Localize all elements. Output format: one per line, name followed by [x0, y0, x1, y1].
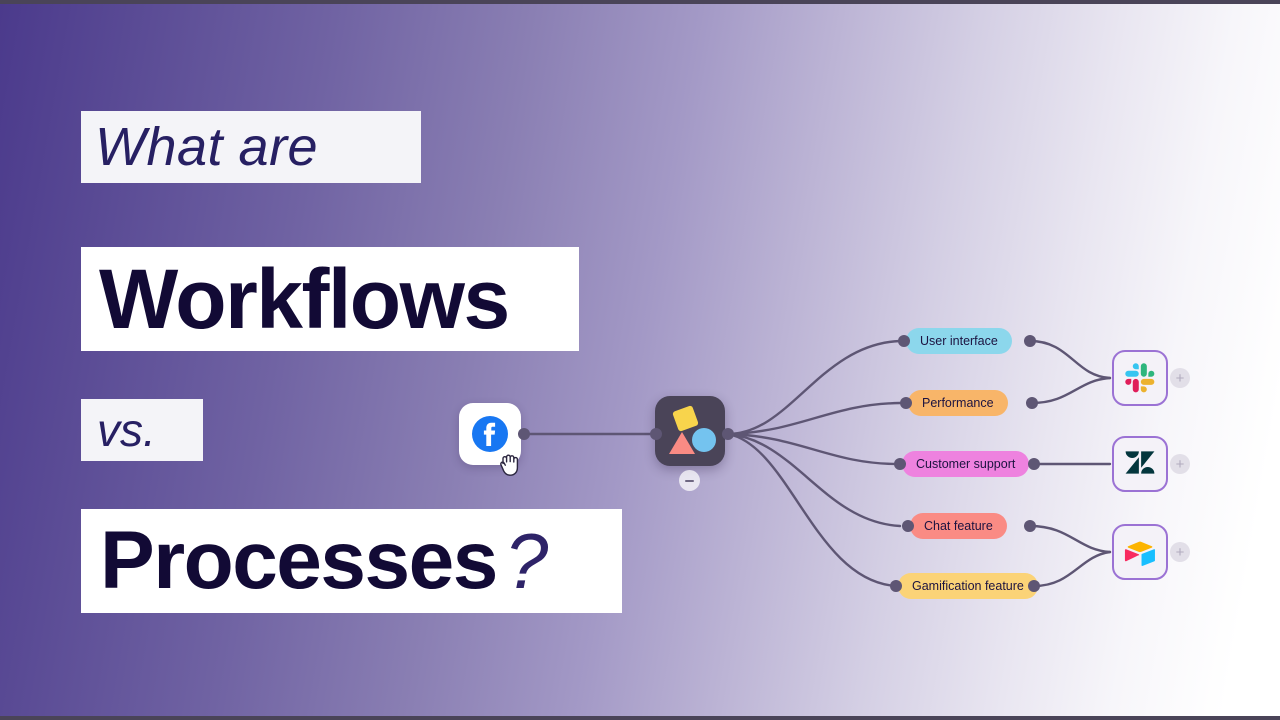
pill-chat-feature-output-port[interactable] — [1024, 520, 1036, 532]
central-node-input-port[interactable] — [650, 428, 662, 440]
pill-gamification-feature-input-port[interactable] — [890, 580, 902, 592]
central-node-output-port[interactable] — [722, 428, 734, 440]
plus-icon: + — [1176, 457, 1185, 472]
pill-gamification-feature-output-port[interactable] — [1028, 580, 1040, 592]
pill-performance-output-port[interactable] — [1026, 397, 1038, 409]
pill-label: Gamification feature — [912, 579, 1024, 593]
red-triangle-icon — [669, 432, 695, 454]
grab-hand-cursor — [498, 450, 524, 480]
flow-graph: User interface Performance Customer supp… — [0, 0, 1280, 720]
pill-label: Performance — [922, 396, 994, 410]
pill-label: Customer support — [916, 457, 1015, 471]
pill-performance-input-port[interactable] — [900, 397, 912, 409]
slack-node[interactable] — [1112, 350, 1168, 406]
airtable-icon — [1124, 536, 1156, 568]
pill-performance[interactable]: Performance — [908, 390, 1008, 416]
slack-add-button[interactable]: + — [1170, 368, 1190, 388]
facebook-output-port[interactable] — [518, 428, 530, 440]
letterbox-bottom — [0, 716, 1280, 720]
minus-icon — [685, 480, 694, 482]
shapes-node[interactable] — [655, 396, 725, 466]
zendesk-node[interactable] — [1112, 436, 1168, 492]
pill-label: User interface — [920, 334, 998, 348]
letterbox-top — [0, 0, 1280, 4]
pill-chat-feature[interactable]: Chat feature — [910, 513, 1007, 539]
yellow-diamond-icon — [672, 405, 699, 432]
plus-icon: + — [1176, 545, 1185, 560]
airtable-add-button[interactable]: + — [1170, 542, 1190, 562]
graph-edges — [0, 0, 1280, 720]
zendesk-icon — [1124, 448, 1156, 480]
collapse-minus-button[interactable] — [679, 470, 700, 491]
airtable-node[interactable] — [1112, 524, 1168, 580]
canvas-stage: What are Workflows vs. Processes ? — [0, 0, 1280, 720]
pill-user-interface[interactable]: User interface — [906, 328, 1012, 354]
pill-customer-support[interactable]: Customer support — [902, 451, 1029, 477]
pill-label: Chat feature — [924, 519, 993, 533]
pill-customer-support-input-port[interactable] — [894, 458, 906, 470]
blue-circle-icon — [692, 428, 716, 452]
zendesk-add-button[interactable]: + — [1170, 454, 1190, 474]
pill-gamification-feature[interactable]: Gamification feature — [898, 573, 1038, 599]
pill-chat-feature-input-port[interactable] — [902, 520, 914, 532]
plus-icon: + — [1176, 371, 1185, 386]
pill-user-interface-input-port[interactable] — [898, 335, 910, 347]
pill-customer-support-output-port[interactable] — [1028, 458, 1040, 470]
facebook-icon — [470, 414, 510, 454]
slack-icon — [1125, 363, 1155, 393]
pill-user-interface-output-port[interactable] — [1024, 335, 1036, 347]
